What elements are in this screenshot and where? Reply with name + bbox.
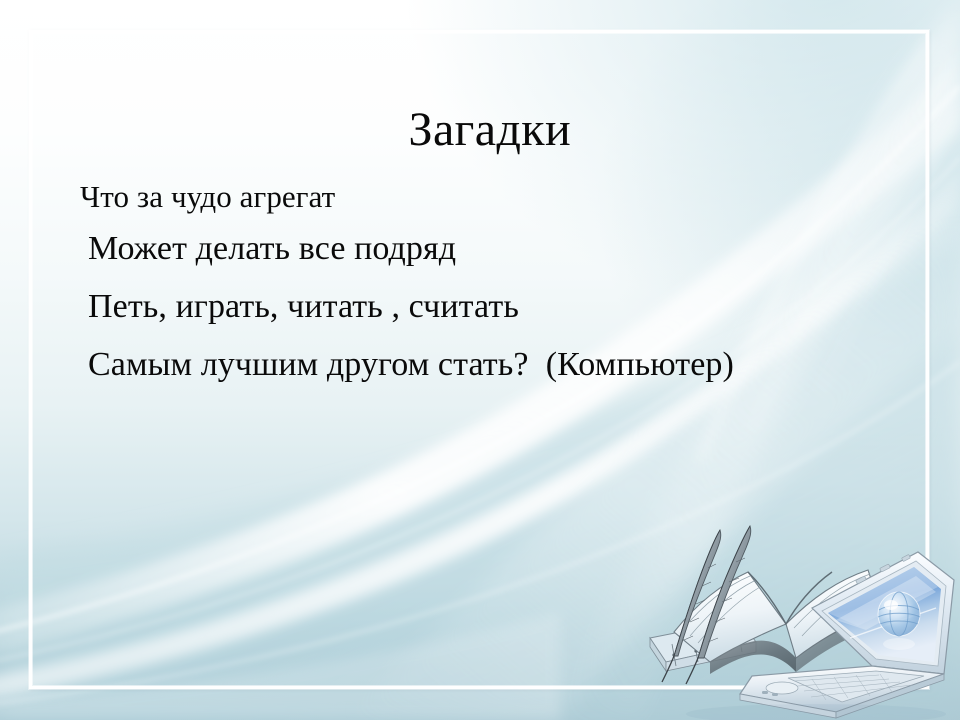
presentation-slide: Загадки Что за чудо агрегат Может делать…	[0, 0, 960, 720]
riddle-line-3: Петь, играть, читать , считать	[72, 278, 932, 336]
riddle-text-block: Что за чудо агрегат Может делать все под…	[72, 174, 932, 394]
page-title-text: Загадки	[409, 106, 572, 155]
riddle-line-2: Может делать все подряд	[72, 220, 932, 278]
riddle-line-1: Что за чудо агрегат	[72, 174, 932, 220]
riddle-line-4: Самым лучшим другом стать? (Компьютер)	[72, 336, 932, 394]
